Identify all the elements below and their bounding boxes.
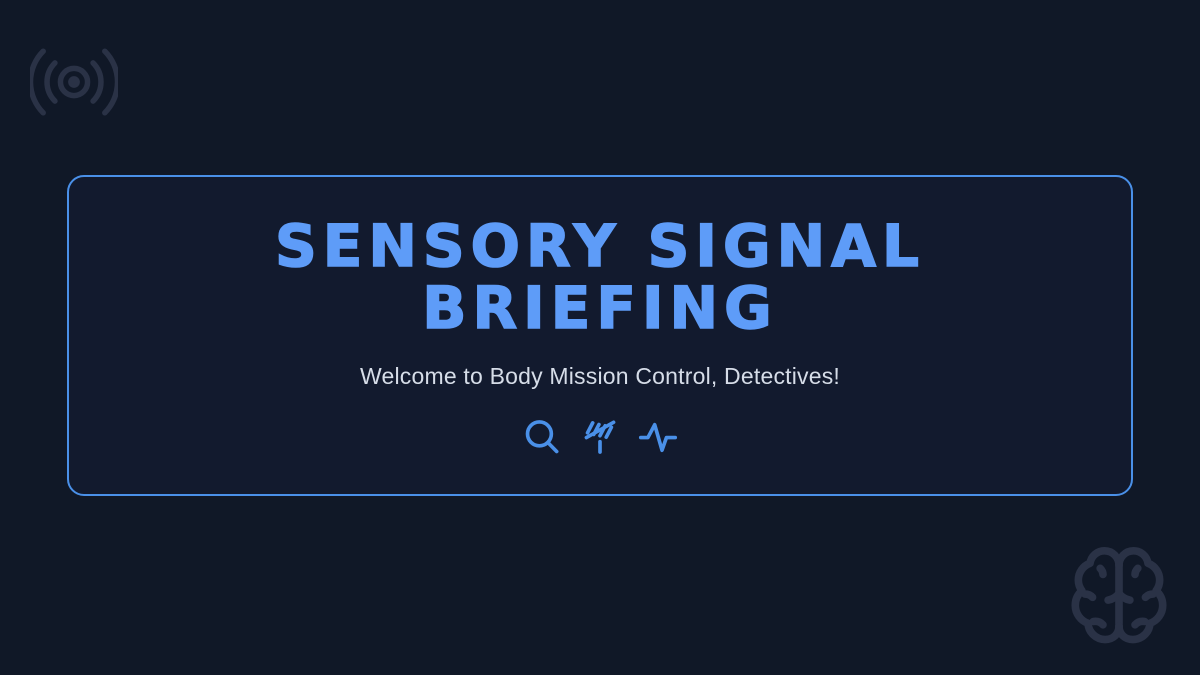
page-title: Sensory Signal Briefing — [250, 215, 950, 339]
icon-row — [520, 415, 680, 459]
hero-subtitle: Welcome to Body Mission Control, Detecti… — [360, 361, 840, 391]
activity-icon[interactable] — [636, 415, 680, 459]
hero-card: Sensory Signal Briefing Welcome to Body … — [67, 175, 1133, 496]
search-icon[interactable] — [520, 415, 564, 459]
brain-icon — [1058, 532, 1180, 654]
antenna-icon[interactable] — [578, 415, 622, 459]
broadcast-signal-icon — [30, 38, 118, 126]
